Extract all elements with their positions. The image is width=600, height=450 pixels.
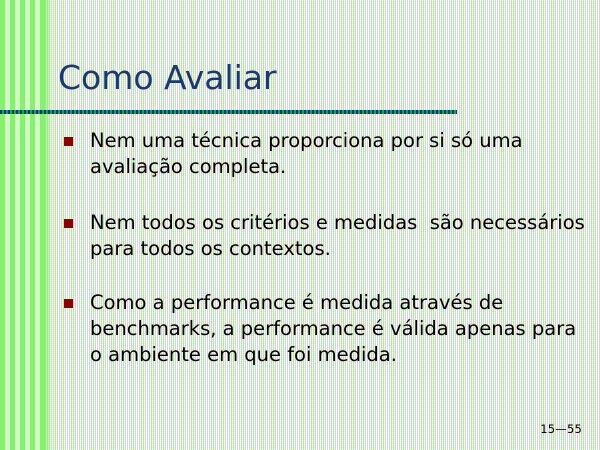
- list-item: Nem uma técnica proporciona por si só um…: [62, 128, 590, 180]
- title-divider-rule: [0, 110, 457, 114]
- bullet-text: Nem uma técnica proporciona por si só um…: [90, 129, 529, 178]
- list-item: Como a performance é medida através de b…: [62, 290, 590, 368]
- slide-content: Como Avaliar Nem uma técnica proporciona…: [0, 0, 600, 450]
- bullet-text: Nem todos os critérios e medidas são nec…: [90, 211, 591, 260]
- presentation-slide: Como Avaliar Nem uma técnica proporciona…: [0, 0, 600, 450]
- slide-title: Como Avaliar: [58, 58, 558, 98]
- square-bullet-icon: [64, 299, 73, 308]
- list-item: Nem todos os critérios e medidas são nec…: [62, 210, 590, 262]
- bullet-text: Como a performance é medida através de b…: [90, 291, 582, 366]
- square-bullet-icon: [64, 219, 73, 228]
- page-number: 15—55: [540, 422, 582, 436]
- square-bullet-icon: [64, 137, 73, 146]
- bullet-list: Nem uma técnica proporciona por si só um…: [62, 128, 590, 368]
